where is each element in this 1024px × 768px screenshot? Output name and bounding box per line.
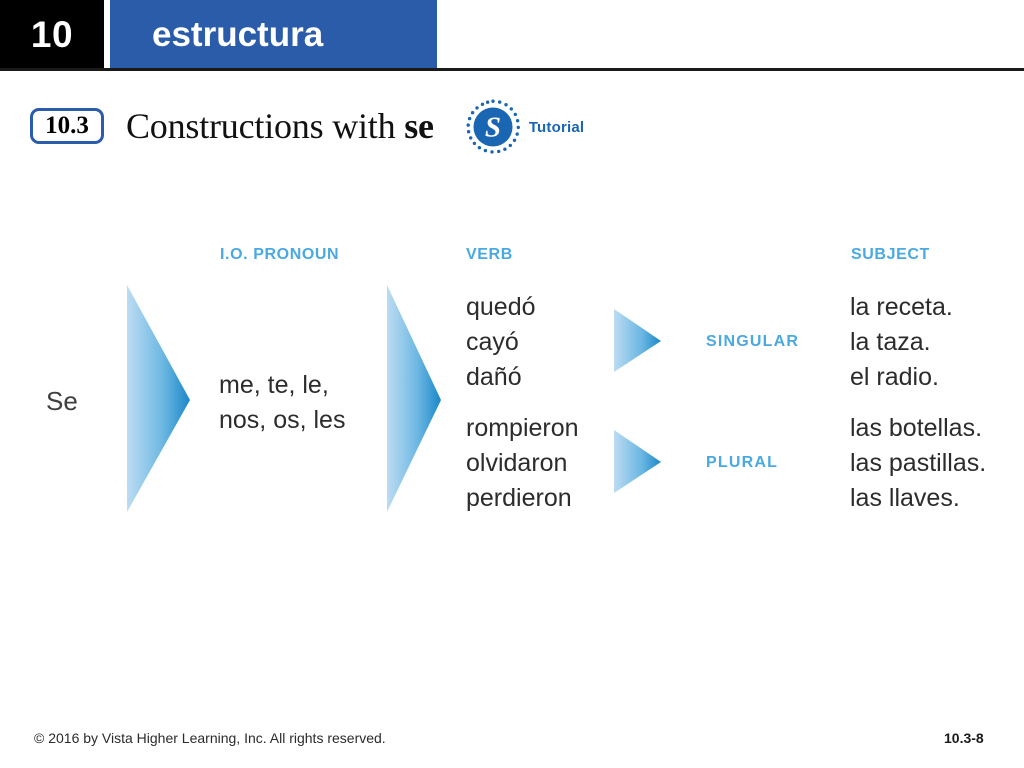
se-word: Se bbox=[46, 386, 78, 417]
lesson-number-badge: 10.3 bbox=[30, 108, 104, 144]
verb-item: quedó bbox=[466, 290, 536, 325]
verb-singular-list: quedó cayó dañó bbox=[466, 290, 536, 395]
subject-singular-list: la receta. la taza. el radio. bbox=[850, 290, 953, 395]
tutorial-label: Tutorial bbox=[529, 119, 584, 136]
pronoun-line: me, te, le, bbox=[219, 368, 345, 403]
number-label-singular: SINGULAR bbox=[706, 333, 799, 351]
title-row: 10.3 Constructions with se bbox=[30, 98, 584, 154]
tutorial-seal-icon: S bbox=[464, 98, 522, 156]
pronoun-line: nos, os, les bbox=[219, 403, 345, 438]
verb-item: dañó bbox=[466, 360, 536, 395]
arrow-se-to-pronoun bbox=[127, 285, 190, 512]
pronoun-list: me, te, le, nos, os, les bbox=[219, 368, 345, 438]
arrow-pronoun-to-verb bbox=[387, 285, 441, 512]
number-label-plural: PLURAL bbox=[706, 454, 778, 472]
arrow-verb-plural bbox=[614, 430, 661, 493]
svg-text:S: S bbox=[485, 112, 501, 144]
verb-item: olvidaron bbox=[466, 446, 579, 481]
subject-item: las botellas. bbox=[850, 411, 986, 446]
column-header-io-pronoun: I.O. PRONOUN bbox=[220, 246, 339, 264]
slide-header-bar: 10 estructura bbox=[0, 0, 1024, 68]
section-name: estructura bbox=[110, 0, 437, 68]
subject-item: la receta. bbox=[850, 290, 953, 325]
verb-item: perdieron bbox=[466, 481, 579, 516]
chapter-number: 10 bbox=[0, 0, 104, 68]
subject-item: las pastillas. bbox=[850, 446, 986, 481]
subject-item: la taza. bbox=[850, 325, 953, 360]
arrow-verb-singular bbox=[614, 309, 661, 372]
verb-plural-list: rompieron olvidaron perdieron bbox=[466, 411, 579, 516]
footer-page-number: 10.3-8 bbox=[944, 730, 984, 746]
subject-plural-list: las botellas. las pastillas. las llaves. bbox=[850, 411, 986, 516]
subject-item: el radio. bbox=[850, 360, 953, 395]
verb-item: rompieron bbox=[466, 411, 579, 446]
page-title-main: Constructions with bbox=[126, 106, 404, 146]
tutorial-badge[interactable]: S Tutorial bbox=[464, 98, 584, 156]
page-title-emphasis: se bbox=[404, 106, 434, 146]
column-header-verb: VERB bbox=[466, 246, 513, 264]
header-divider-rule bbox=[0, 68, 1024, 71]
page-title: Constructions with se bbox=[126, 105, 434, 147]
footer-copyright: © 2016 by Vista Higher Learning, Inc. Al… bbox=[34, 730, 386, 746]
verb-item: cayó bbox=[466, 325, 536, 360]
column-header-subject: SUBJECT bbox=[851, 246, 930, 264]
subject-item: las llaves. bbox=[850, 481, 986, 516]
